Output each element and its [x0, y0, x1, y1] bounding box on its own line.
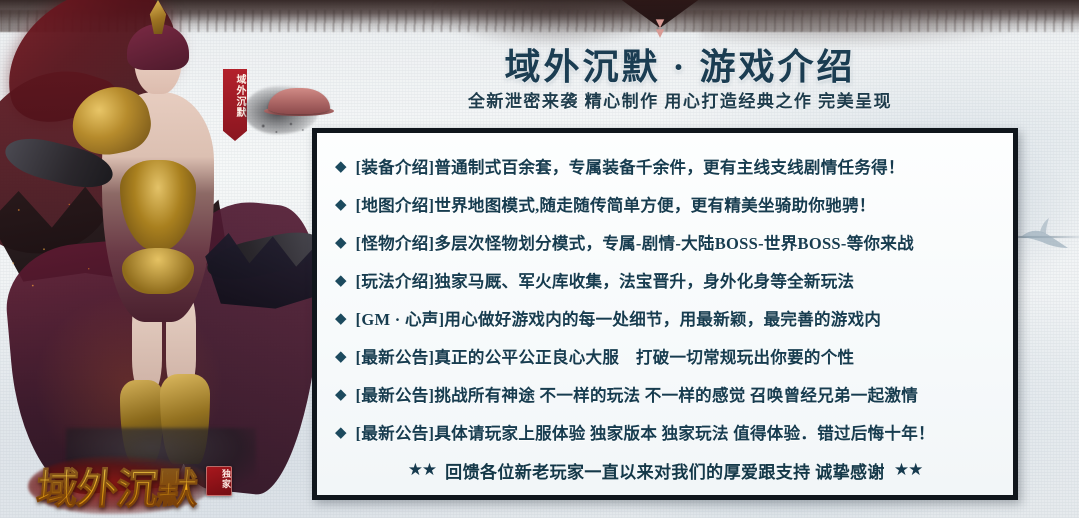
- announcement-text: [怪物介绍]多层次怪物划分模式，专属-剧情-大陆BOSS-世界BOSS-等你来战: [356, 230, 914, 254]
- ink-drips: [250, 118, 316, 138]
- exclusive-seal-label: 独家: [207, 469, 233, 489]
- diamond-bullet-icon: ◆: [335, 157, 347, 175]
- star-icon-left: ★★: [408, 460, 436, 480]
- announcement-text: [地图介绍]世界地图模式,随走随传简单方便，更有精美坐骑助你驰骋！: [356, 192, 876, 216]
- diamond-bullet-icon: ◆: [335, 195, 347, 213]
- announcement-text: [装备介绍]普通制式百余套，专属装备千余件，更有主线支线剧情任务得！: [356, 154, 905, 178]
- promo-banner: MORE ▾▾ 域外沉默: [0, 0, 1079, 518]
- diamond-bullet-icon: ◆: [335, 309, 347, 327]
- diamond-bullet-icon: ◆: [335, 233, 347, 251]
- panel-footer-text: 回馈各位新老玩家一直以来对我们的厚爱跟支持 诚挚感谢: [445, 458, 885, 483]
- announcement-text: [GM · 心声]用心做好游戏内的每一处细节，用最新颖，最完善的游戏内: [356, 306, 882, 330]
- announcement-row: ◆[最新公告]具体请玩家上服体验 独家版本 独家玩法 值得体验．错过后悔十年！: [335, 413, 995, 451]
- diamond-bullet-icon: ◆: [335, 385, 347, 403]
- announcement-row: ◆[GM · 心声]用心做好游戏内的每一处细节，用最新颖，最完善的游戏内: [335, 299, 995, 337]
- announcement-row: ◆[最新公告]挑战所有神途 不一样的玩法 不一样的感觉 召唤曾经兄弟一起激情: [335, 375, 995, 413]
- page-title: 域外沉默 · 游戏介绍: [330, 38, 1030, 90]
- announcement-row: ◆[最新公告]真正的公平公正良心大服 打破一切常规玩出你要的个性: [335, 337, 995, 375]
- announcement-row: ◆[装备介绍]普通制式百余套，专属装备千余件，更有主线支线剧情任务得！: [335, 147, 995, 185]
- star-icon-right: ★★: [894, 460, 922, 480]
- announcement-row: ◆[怪物介绍]多层次怪物划分模式，专属-剧情-大陆BOSS-世界BOSS-等你来…: [335, 223, 995, 261]
- panel-footer: ★★ 回馈各位新老玩家一直以来对我们的厚爱跟支持 诚挚感谢 ★★: [335, 455, 995, 485]
- diamond-bullet-icon: ◆: [335, 423, 347, 441]
- bird-icon: [1016, 218, 1072, 258]
- diamond-bullet-icon: ◆: [335, 347, 347, 365]
- page-subtitle: 全新泄密来袭 精心制作 用心打造经典之作 完美呈现: [330, 87, 1030, 112]
- exclusive-seal: 独家: [206, 466, 232, 496]
- chevron-down-icon: ▾▾: [603, 18, 717, 38]
- game-logo: 域外沉默 独家: [24, 452, 236, 516]
- announcement-row: ◆[地图介绍]世界地图模式,随走随传简单方便，更有精美坐骑助你驰骋！: [335, 185, 995, 223]
- announcement-text: [最新公告]具体请玩家上服体验 独家版本 独家玩法 值得体验．错过后悔十年！: [356, 420, 935, 444]
- announcement-text: [最新公告]真正的公平公正良心大服 打破一切常规玩出你要的个性: [356, 344, 855, 368]
- hat-body: [268, 88, 330, 114]
- announcement-panel-inner: ◆[装备介绍]普通制式百余套，专属装备千余件，更有主线支线剧情任务得！◆[地图介…: [317, 133, 1013, 495]
- announcement-text: [玩法介绍]独家马厩、军火库收集，法宝晋升，身外化身等全新玩法: [356, 268, 855, 292]
- announcement-list: ◆[装备介绍]普通制式百余套，专属装备千余件，更有主线支线剧情任务得！◆[地图介…: [335, 147, 995, 451]
- announcement-row: ◆[玩法介绍]独家马厩、军火库收集，法宝晋升，身外化身等全新玩法: [335, 261, 995, 299]
- ember-particles: [2, 182, 142, 322]
- announcement-text: [最新公告]挑战所有神途 不一样的玩法 不一样的感觉 召唤曾经兄弟一起激情: [356, 382, 918, 406]
- logo-text: 域外沉默: [21, 455, 212, 515]
- diamond-bullet-icon: ◆: [335, 271, 347, 289]
- announcement-panel: ◆[装备介绍]普通制式百余套，专属装备千余件，更有主线支线剧情任务得！◆[地图介…: [312, 128, 1018, 500]
